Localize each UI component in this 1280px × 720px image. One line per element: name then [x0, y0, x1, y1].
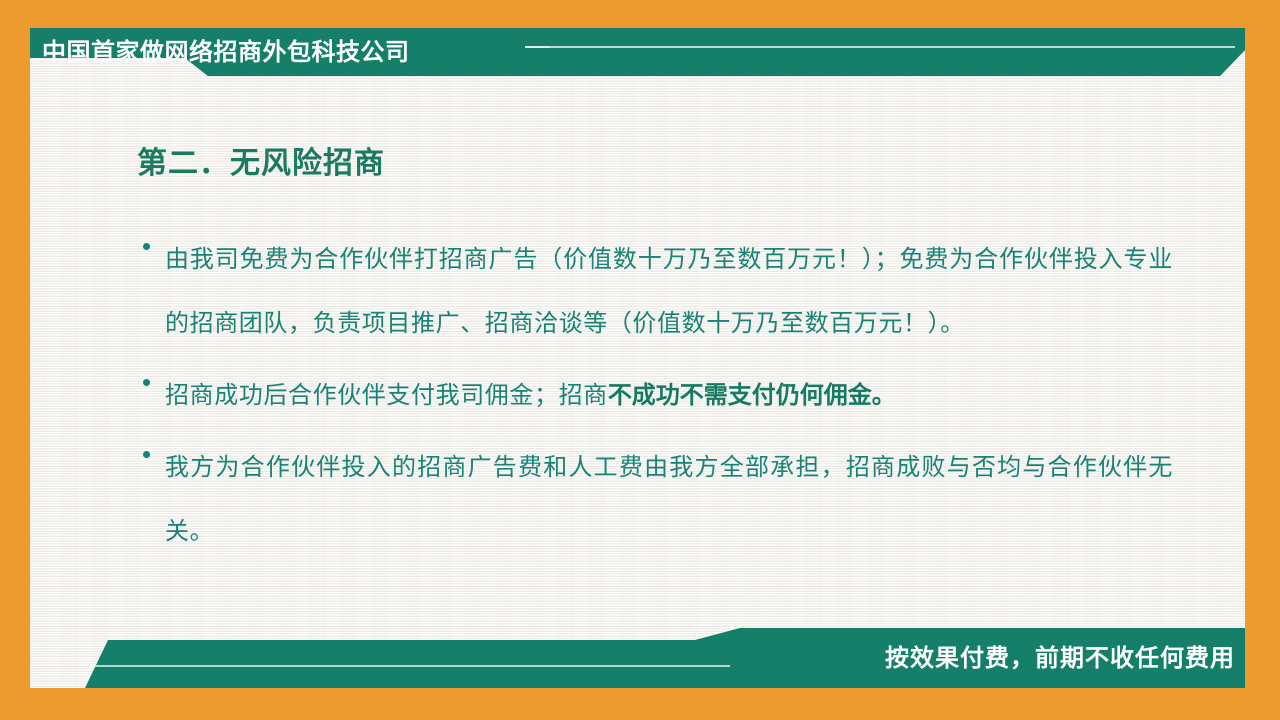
list-item-text: 我方为合作伙伴投入的招商广告费和人工费由我方全部承担，招商成败与否均与合作伙伴无…	[165, 436, 1173, 564]
list-item: 由我司免费为合作伙伴打招商广告（价值数十万乃至数百万元！）；免费为合作伙伴投入专…	[143, 228, 1173, 356]
list-item: 我方为合作伙伴投入的招商广告费和人工费由我方全部承担，招商成败与否均与合作伙伴无…	[143, 436, 1173, 564]
list-item-segment: 我方为合作伙伴投入的招商广告费和人工费由我方全部承担，招商成败与否均与合作伙伴无…	[165, 455, 1173, 545]
list-item-segment-emphasis: 不成功不需支付仍何佣金。	[608, 382, 896, 409]
bullet-marker-icon	[143, 228, 165, 250]
bullet-marker-icon	[143, 436, 165, 458]
slide-root: 中国首家做网络招商外包科技公司 第二．无风险招商 由我司免费为合作伙伴打招商广告…	[0, 0, 1280, 720]
list-item: 招商成功后合作伙伴支付我司佣金；招商不成功不需支付仍何佣金。	[143, 364, 1173, 428]
list-item-text: 由我司免费为合作伙伴打招商广告（价值数十万乃至数百万元！）；免费为合作伙伴投入专…	[165, 228, 1173, 356]
footer-text: 按效果付费，前期不收任何费用	[885, 643, 1235, 675]
list-item-segment: 由我司免费为合作伙伴打招商广告（价值数十万乃至数百万元！）；免费为合作伙伴投入专…	[165, 247, 1173, 337]
list-item-text: 招商成功后合作伙伴支付我司佣金；招商不成功不需支付仍何佣金。	[165, 364, 1173, 428]
bullet-marker-icon	[143, 364, 165, 386]
page-title: 第二．无风险招商	[137, 138, 385, 182]
list-item-segment: 招商成功后合作伙伴支付我司佣金；招商	[165, 383, 608, 409]
bullet-list: 由我司免费为合作伙伴打招商广告（价值数十万乃至数百万元！）；免费为合作伙伴投入专…	[143, 228, 1173, 572]
header-title: 中国首家做网络招商外包科技公司	[42, 38, 410, 68]
